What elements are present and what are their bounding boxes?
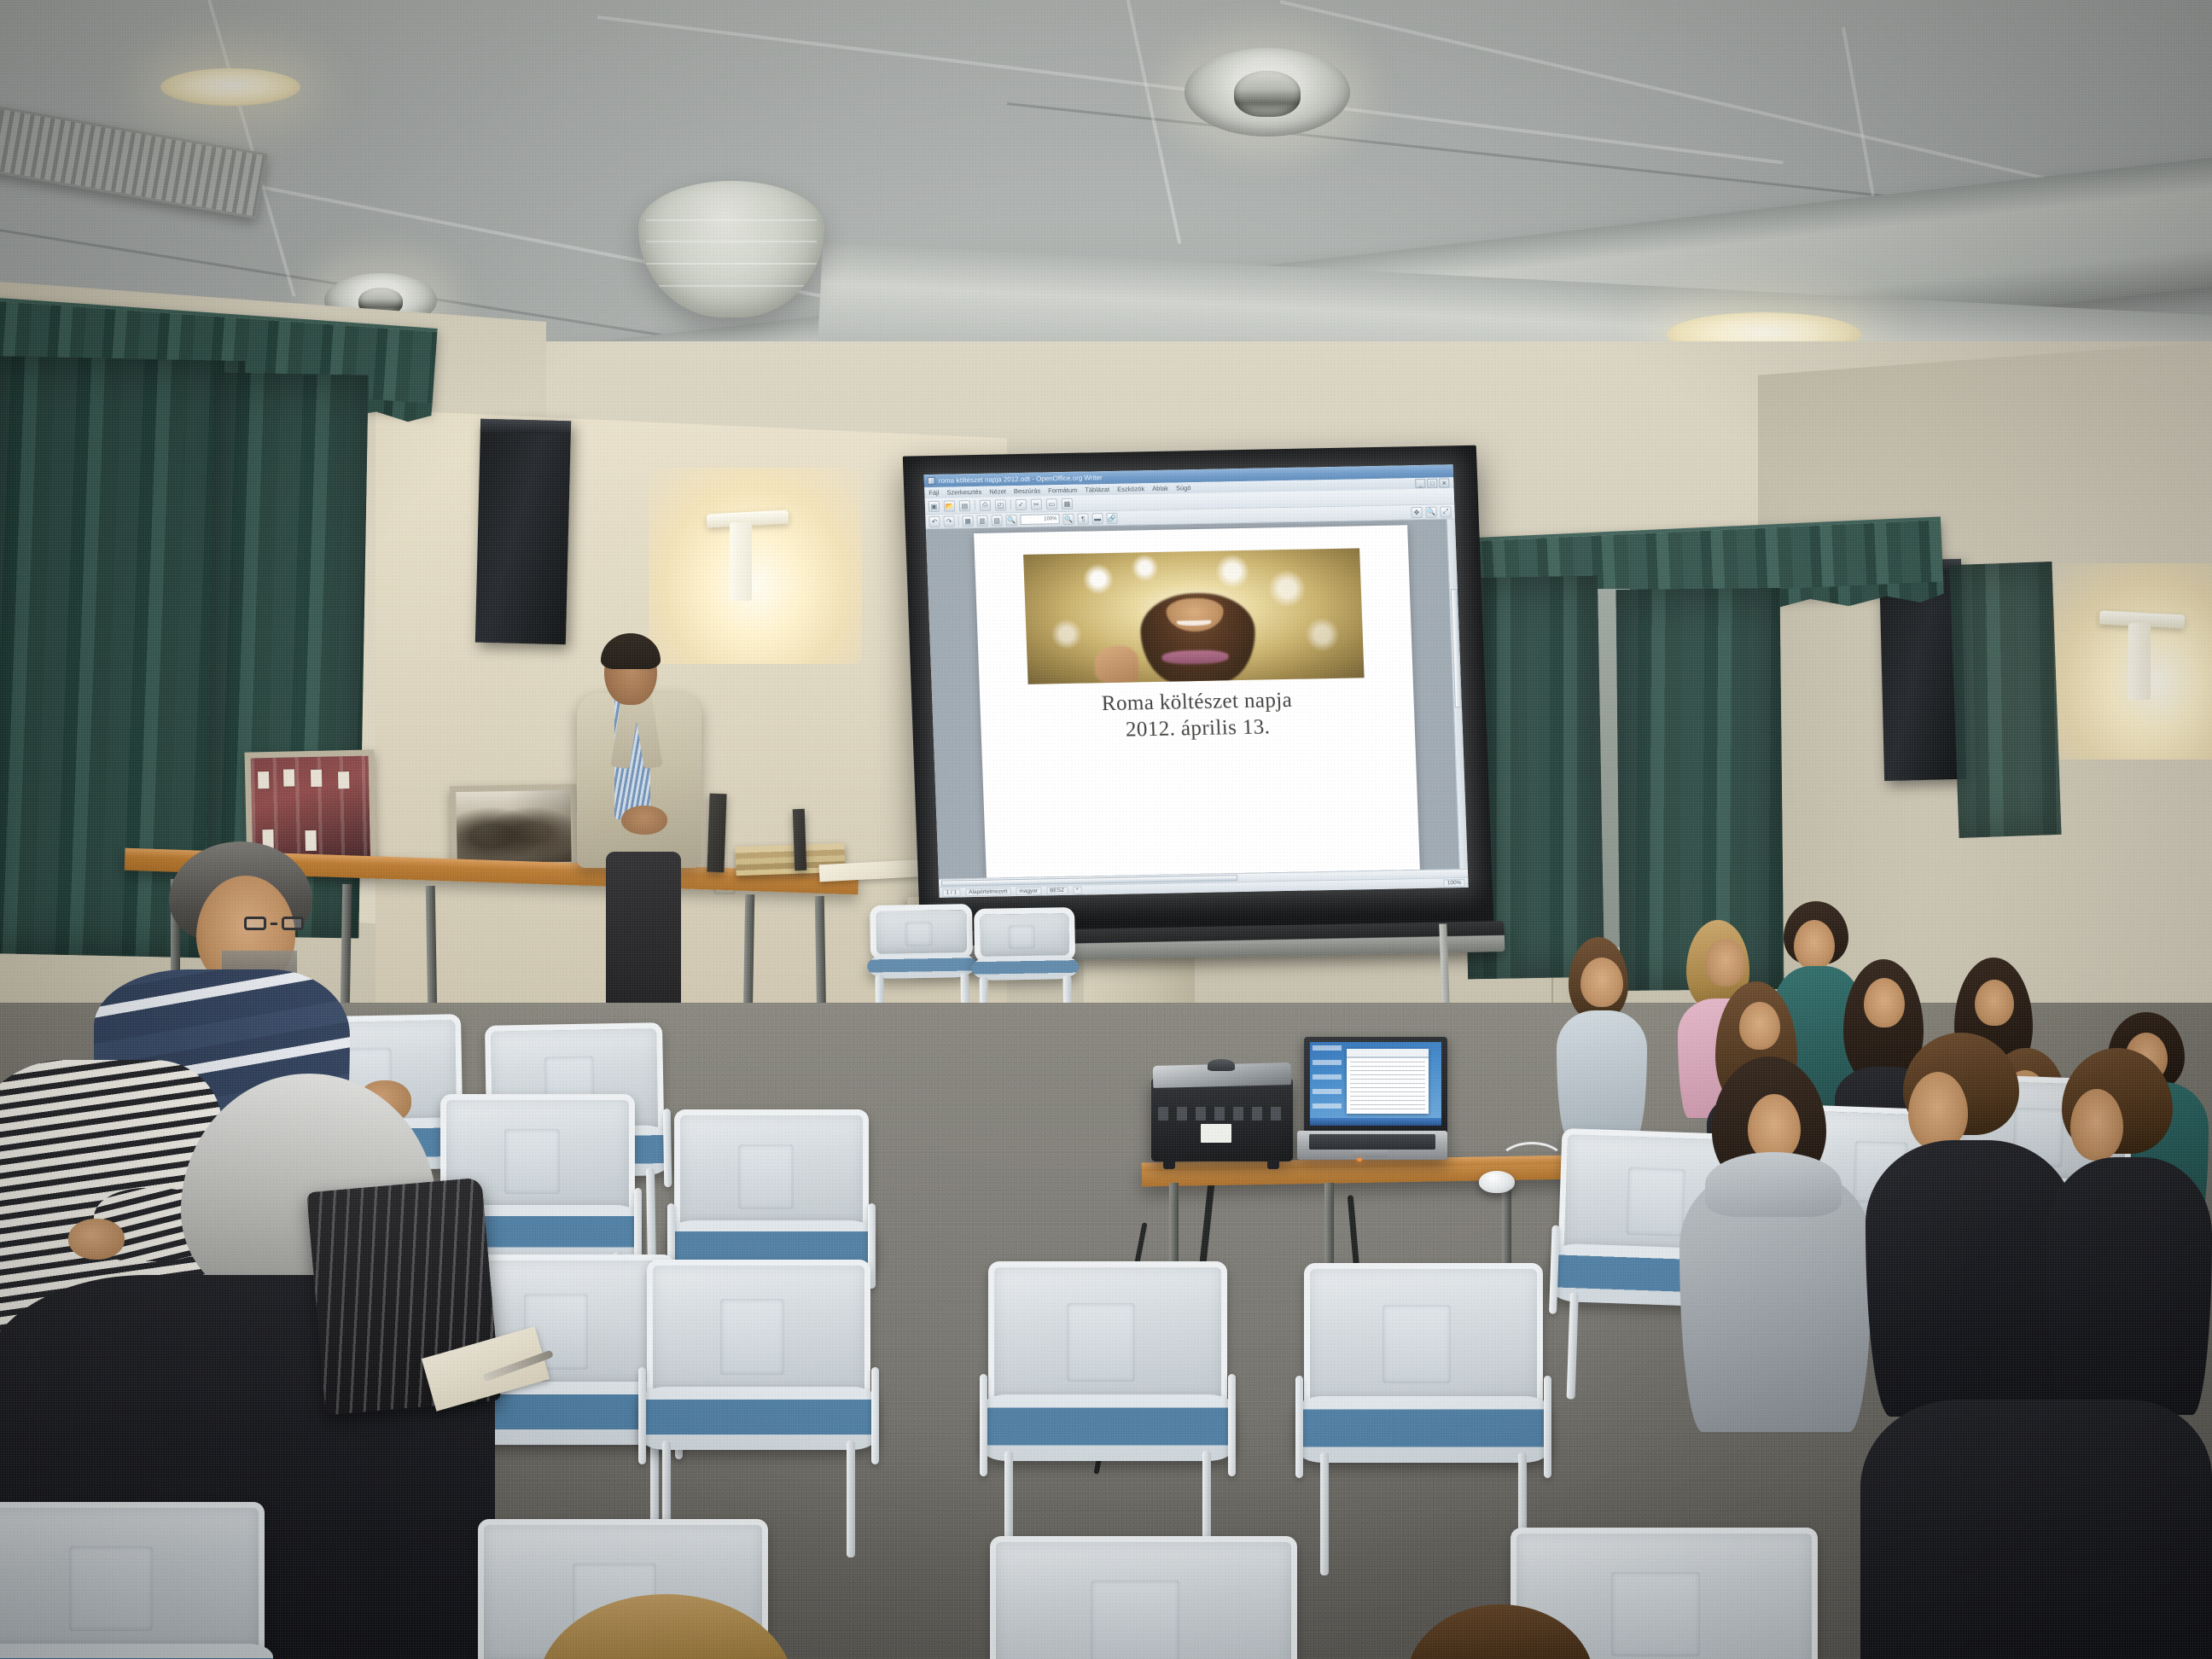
status-modified: * xyxy=(1073,887,1082,894)
taskbar[interactable] xyxy=(1310,1118,1441,1126)
table-icon[interactable]: ▦ xyxy=(962,515,973,527)
wall-sconce-stem xyxy=(2128,623,2151,700)
chair-arm xyxy=(871,1367,879,1464)
open-folder-icon[interactable]: 📂 xyxy=(944,500,955,511)
status-page-count: 1 / 1 xyxy=(942,888,960,896)
document-page[interactable]: Roma költészet napja 2012. április 13. xyxy=(974,525,1420,877)
chair-back xyxy=(870,904,973,960)
audience-blonde-front-row xyxy=(538,1594,794,1659)
left-wall-speaker xyxy=(475,419,571,645)
window-controls[interactable]: _ □ ✕ xyxy=(1415,478,1449,488)
menu-item-file[interactable]: Fájl xyxy=(928,489,939,497)
torso xyxy=(1860,1400,2212,1659)
laptop-keyboard[interactable] xyxy=(1309,1134,1435,1150)
stacking-chair[interactable] xyxy=(988,1261,1227,1517)
chair-seat xyxy=(0,1644,273,1659)
eyeglasses xyxy=(244,917,304,930)
minimize-icon[interactable]: _ xyxy=(1415,479,1425,488)
gallery-icon[interactable]: ▨ xyxy=(991,515,1002,526)
stacking-chair[interactable] xyxy=(990,1536,1297,1659)
projector[interactable] xyxy=(1151,1078,1293,1161)
head xyxy=(1975,980,2014,1026)
find-again-icon[interactable]: 🔍 xyxy=(1425,506,1436,517)
toolbar-separator xyxy=(958,515,958,526)
zoom-level-combo[interactable]: 100% xyxy=(1020,514,1059,525)
projector-lens-knob[interactable] xyxy=(1208,1059,1235,1071)
menu-item-edit[interactable]: Szerkesztés xyxy=(946,488,981,497)
chair-back xyxy=(647,1260,870,1401)
framed-artwork-landscape xyxy=(450,784,578,870)
document-canvas[interactable]: Roma költészet napja 2012. április 13. xyxy=(926,519,1468,879)
glasses-lens-right xyxy=(282,917,304,930)
presenter-hands xyxy=(621,806,667,835)
stacking-chair[interactable] xyxy=(870,904,974,999)
undo-icon[interactable]: ↶ xyxy=(928,515,940,527)
fields-icon[interactable]: ▬ xyxy=(1091,513,1103,524)
laptop-screen[interactable] xyxy=(1310,1042,1441,1126)
upright-book xyxy=(793,809,807,870)
chair-arm xyxy=(1228,1374,1236,1476)
glasses-lens-left xyxy=(244,917,266,930)
chair-arm xyxy=(1295,1376,1303,1478)
chair-back xyxy=(674,1109,869,1233)
menu-item-window[interactable]: Ablak xyxy=(1152,485,1168,492)
stacking-chair[interactable] xyxy=(0,1502,265,1659)
audience-person-front-right xyxy=(1860,1400,2212,1659)
glasses-bridge xyxy=(271,923,277,925)
redo-icon[interactable]: ↷ xyxy=(943,515,954,527)
torso xyxy=(2046,1157,2212,1415)
projector-foot xyxy=(1267,1160,1279,1169)
torso xyxy=(1866,1140,2075,1417)
chair-arm xyxy=(1544,1376,1551,1478)
app-titlebar-text: roma költészet napja 2012.odt - OpenOffi… xyxy=(939,474,1103,485)
recessed-downlight xyxy=(1185,48,1350,137)
menu-item-help[interactable]: Súgó xyxy=(1176,484,1191,492)
save-icon[interactable]: ▤ xyxy=(959,500,970,511)
menu-item-view[interactable]: Nézet xyxy=(989,487,1006,495)
speaker-top-face xyxy=(480,419,571,435)
stacking-chair[interactable] xyxy=(974,907,1076,1001)
flat-ceiling-lamp xyxy=(160,68,300,106)
audience-boy-black-shirt-2 xyxy=(2046,1048,2212,1415)
head xyxy=(1794,920,1835,969)
status-language: magyar xyxy=(1016,888,1041,896)
head xyxy=(1748,1094,1801,1161)
new-document-icon[interactable]: ▣ xyxy=(928,500,940,511)
status-insert-mode[interactable]: BESZ xyxy=(1046,887,1068,894)
slide-photo-laughing-woman xyxy=(1023,548,1364,684)
power-led-icon xyxy=(1357,1158,1362,1161)
columns-icon[interactable]: ▥ xyxy=(976,515,987,526)
head xyxy=(1908,1072,1968,1150)
nonprinting-icon[interactable]: ¶ xyxy=(1077,513,1088,524)
laptop-touchpad[interactable] xyxy=(1353,1150,1388,1157)
chair-back xyxy=(988,1261,1227,1410)
wall-sconce-stem xyxy=(730,522,752,601)
audience-boy-black-shirt-1 xyxy=(1866,1033,2075,1417)
maximize-icon[interactable]: □ xyxy=(1427,479,1437,488)
laptop-lid xyxy=(1304,1037,1447,1132)
chair-legs xyxy=(1313,1452,1534,1575)
projected-application-window: roma költészet napja 2012.odt - OpenOffi… xyxy=(924,464,1469,898)
mouse-cable xyxy=(1498,1142,1566,1185)
cut-icon[interactable]: ✂ xyxy=(1031,498,1042,509)
menu-item-format[interactable]: Formátum xyxy=(1048,486,1078,495)
photo-arm xyxy=(1094,646,1139,684)
stacking-chair[interactable] xyxy=(1304,1263,1543,1519)
find-icon[interactable]: 🔍 xyxy=(1062,513,1074,524)
head xyxy=(1864,978,1905,1027)
projector-label xyxy=(1201,1124,1231,1143)
wall-sconce-glow xyxy=(649,468,862,664)
toolbar-separator xyxy=(1010,499,1011,509)
conference-room-photo: Sandic roma költészet napja 2012.odt - O… xyxy=(0,0,2212,1659)
presenter-trousers xyxy=(606,852,681,1005)
chair-back xyxy=(974,907,1075,963)
chair-back xyxy=(0,1502,265,1659)
stacking-chair[interactable] xyxy=(647,1260,870,1504)
menu-item-insert[interactable]: Beszúrás xyxy=(1014,487,1041,496)
projection-screen: roma költészet napja 2012.odt - OpenOffi… xyxy=(903,445,1493,934)
chair-arm xyxy=(980,1374,987,1476)
presenter xyxy=(582,638,710,1014)
chair-back xyxy=(990,1536,1297,1659)
menu-item-table[interactable]: Táblázat xyxy=(1085,486,1109,494)
presenter-hair xyxy=(601,633,661,669)
chair-back xyxy=(1304,1263,1543,1412)
desktop-icons[interactable] xyxy=(1313,1045,1342,1119)
close-icon[interactable]: ✕ xyxy=(1439,478,1449,487)
paste-icon[interactable]: ▦ xyxy=(1062,498,1073,509)
hair xyxy=(1406,1604,1594,1659)
print-preview-icon[interactable]: ◰ xyxy=(995,499,1006,510)
open-window[interactable] xyxy=(1347,1049,1428,1114)
toolbar-separator xyxy=(975,500,975,510)
head xyxy=(2070,1089,2123,1161)
spellcheck-icon[interactable]: ✓ xyxy=(1016,498,1027,509)
head xyxy=(1705,939,1746,987)
print-icon[interactable]: ⎙ xyxy=(980,499,991,510)
head xyxy=(1580,958,1623,1007)
head xyxy=(1739,1002,1780,1050)
audience-girl-light-top xyxy=(1555,937,1649,1133)
status-page-style: Alapértelmezett xyxy=(965,888,1011,896)
audience-boy-grey-hoodie xyxy=(1679,1057,1872,1432)
projector-ports xyxy=(1158,1107,1284,1121)
hoodie-hood xyxy=(1705,1152,1842,1217)
curtain-far-right xyxy=(1949,562,2061,838)
chair-arm xyxy=(663,1109,672,1187)
fullscreen-icon[interactable]: ⤢ xyxy=(1440,506,1451,517)
copy-icon[interactable]: ▭ xyxy=(1046,498,1057,509)
menu-item-tools[interactable]: Eszközök xyxy=(1117,485,1144,493)
chair-arm xyxy=(638,1367,646,1464)
writer-document-icon xyxy=(928,477,935,485)
presentation-laptop[interactable] xyxy=(1297,1037,1447,1172)
navigator-icon[interactable]: ✥ xyxy=(1411,506,1422,517)
hair xyxy=(538,1594,794,1659)
projector-foot xyxy=(1163,1160,1175,1169)
window-rows xyxy=(1350,1062,1425,1110)
torso xyxy=(1557,1010,1647,1137)
status-zoom[interactable]: 100% xyxy=(1444,879,1465,887)
zoom-icon[interactable]: 🔍 xyxy=(1005,515,1016,526)
audience-head-front-right xyxy=(1406,1604,1594,1659)
hyperlink-icon[interactable]: 🔗 xyxy=(1106,512,1117,523)
